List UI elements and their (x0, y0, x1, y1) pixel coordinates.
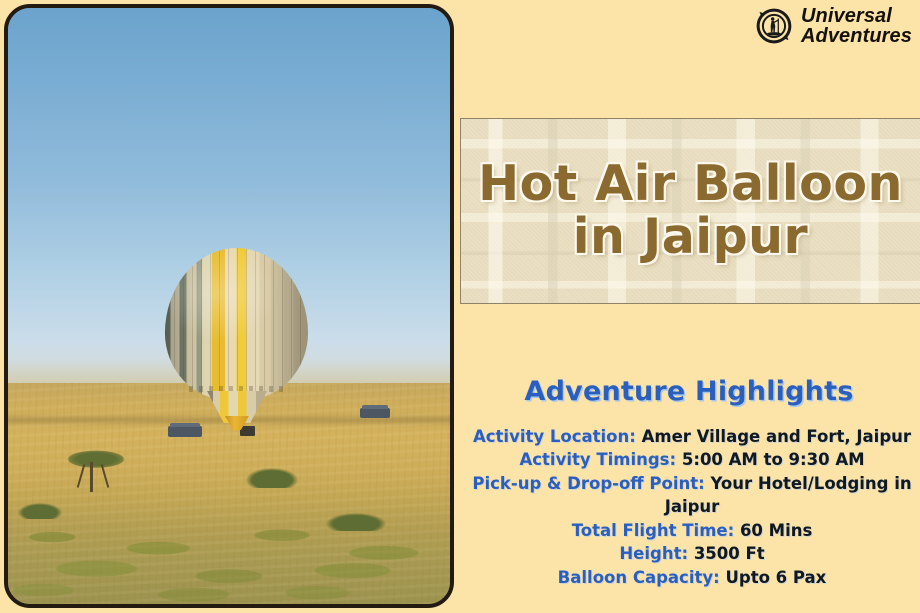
title-banner: Hot Air Balloon in Jaipur (460, 118, 920, 304)
highlight-item: Activity Timings: 5:00 AM to 9:30 AM (472, 448, 912, 471)
tree-trunk (90, 462, 93, 492)
page-title-line-1: Hot Air Balloon (478, 158, 903, 211)
highlight-label: Activity Timings: (519, 450, 676, 469)
foreground-bush (246, 468, 298, 488)
balloon-shading (165, 248, 308, 400)
hero-photo-card (4, 4, 454, 608)
highlight-label: Pick-up & Drop-off Point: (472, 474, 704, 493)
brand-line-1: Universal (801, 6, 912, 26)
highlights-heading: Adventure Highlights (458, 376, 920, 407)
foreground-bush (326, 513, 386, 531)
distant-vehicle (360, 408, 390, 418)
highlight-item: Balloon Capacity: Upto 6 Pax (472, 566, 912, 589)
highlight-label: Balloon Capacity: (558, 568, 720, 587)
hero-photo (8, 8, 450, 604)
highlight-value: 60 Mins (740, 521, 812, 540)
tree-canopy (60, 446, 132, 468)
balloon-envelope (165, 248, 308, 400)
balloon-neck (225, 416, 249, 430)
page-title-line-2: in Jaipur (573, 211, 808, 264)
hot-air-balloon (165, 248, 308, 434)
highlights-list: Activity Location: Amer Village and Fort… (472, 425, 912, 589)
acacia-tree (60, 446, 132, 494)
highlight-item: Activity Location: Amer Village and Fort… (472, 425, 912, 448)
brand-logo[interactable]: Universal Adventures (754, 6, 912, 46)
hiker-circle-icon (754, 6, 794, 46)
highlight-value: Upto 6 Pax (725, 568, 826, 587)
info-panel: Universal Adventures Hot Air Balloon in … (458, 0, 920, 613)
highlight-value: 5:00 AM to 9:30 AM (682, 450, 865, 469)
highlight-label: Total Flight Time: (572, 521, 735, 540)
foreground-bush (18, 503, 62, 519)
highlight-label: Height: (619, 544, 688, 563)
highlight-value: Amer Village and Fort, Jaipur (642, 427, 911, 446)
highlight-label: Activity Location: (473, 427, 636, 446)
highlight-value: 3500 Ft (694, 544, 765, 563)
highlight-item: Total Flight Time: 60 Mins (472, 519, 912, 542)
brand-wordmark: Universal Adventures (801, 6, 912, 46)
highlight-item: Height: 3500 Ft (472, 542, 912, 565)
brand-line-2: Adventures (801, 26, 912, 46)
highlight-item: Pick-up & Drop-off Point: Your Hotel/Lod… (472, 472, 912, 519)
